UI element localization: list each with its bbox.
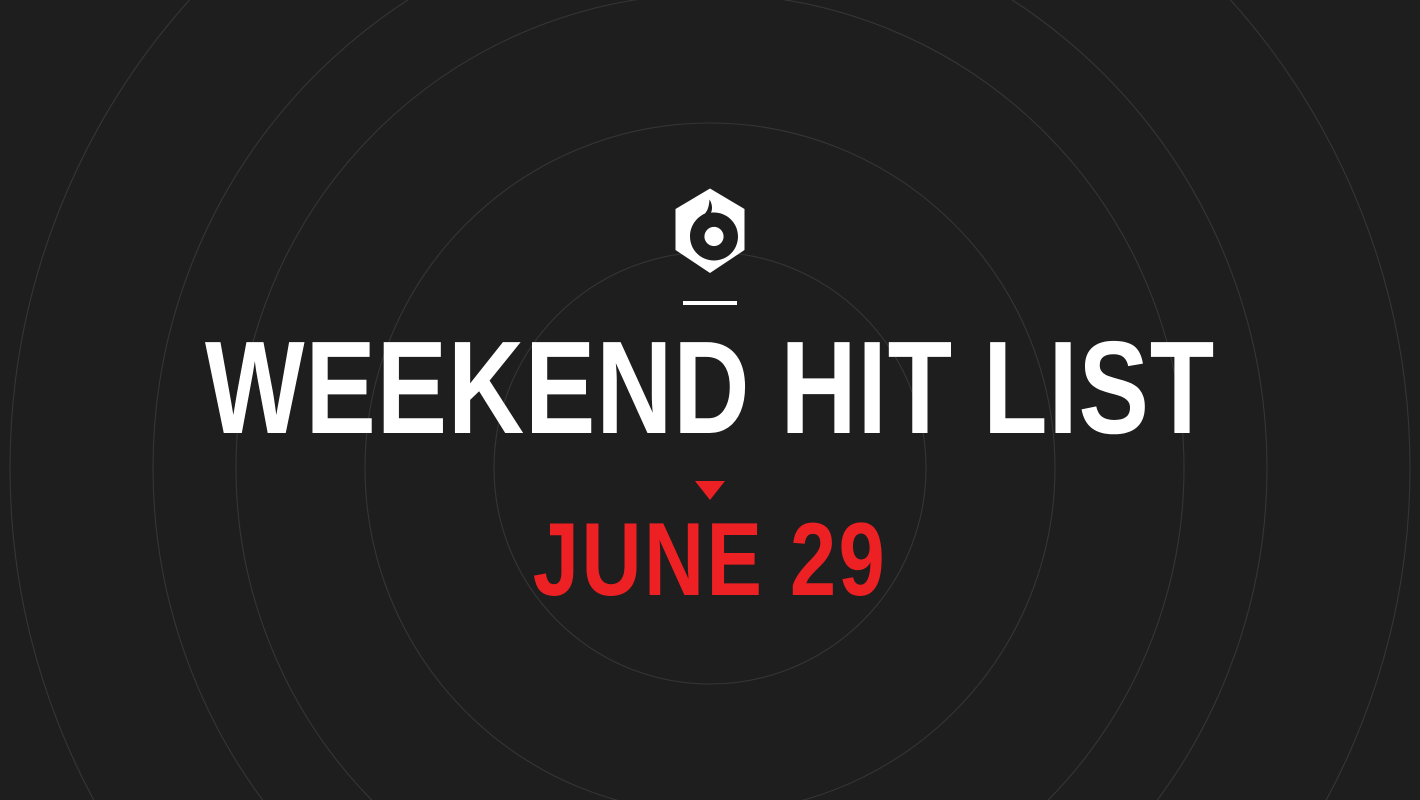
red-caret-icon — [695, 481, 725, 500]
page-title: WEEKEND HIT LIST — [142, 322, 1278, 454]
brand-logo-icon — [673, 188, 747, 274]
logo-center-dot — [704, 227, 723, 246]
title-card: WEEKEND HIT LIST JUNE 29 — [0, 0, 1420, 800]
title-rule — [683, 301, 737, 305]
date-label: JUNE 29 — [142, 508, 1278, 612]
brand-logo — [673, 188, 747, 274]
